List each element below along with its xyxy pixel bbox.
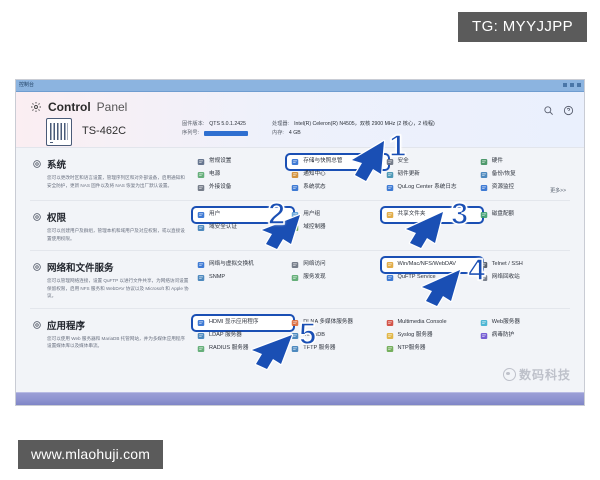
redacted-serial (204, 131, 248, 136)
control-item[interactable]: 存储与快照总管 (287, 155, 387, 169)
control-item[interactable]: 磁盘配额 (480, 211, 570, 219)
desktop-taskbar[interactable] (16, 392, 584, 405)
page-title-bold: Control (48, 100, 91, 114)
telegram-handle-badge: TG: MYYJJPP (458, 12, 587, 42)
domain-controller-icon (291, 224, 299, 232)
control-item[interactable]: 韧件更新 (386, 171, 476, 179)
control-item-label: MariaDB (303, 333, 325, 339)
control-item[interactable]: 网络回收站 (480, 274, 570, 282)
info-label: 固件版本: (182, 122, 204, 127)
storage-snapshot-icon (291, 158, 299, 166)
control-item[interactable]: MariaDB (291, 332, 381, 340)
section-title: 系统 (47, 157, 66, 171)
control-item[interactable]: 电源 (197, 171, 287, 179)
control-item-label: 电源 (209, 172, 220, 178)
control-item[interactable]: Win/Mac/NFS/WebDAV (382, 258, 482, 272)
section-description: 您可以创建用户及群组，管理本机和域用户及对应权限，或以直接设置使用权限。 (32, 227, 189, 242)
control-item[interactable]: Multimedia Console (386, 319, 476, 327)
hdmi-display-icon (197, 319, 205, 327)
section-applications: 应用程序您可以使用 Web 服务器和 MariaDB 托管网站，并为多媒体应用程… (30, 309, 570, 361)
control-item[interactable]: Web服务器 (480, 319, 570, 327)
control-item[interactable]: RADIUS 服务器 (197, 345, 287, 353)
control-item-label: Multimedia Console (398, 320, 447, 326)
general-settings-icon (197, 158, 205, 166)
control-item-label: 常规设置 (209, 159, 231, 165)
info-serial: 序列号: (182, 131, 248, 136)
resource-monitor-icon (480, 184, 488, 192)
section-title-row: 系统 (32, 157, 197, 171)
control-item[interactable]: NTP服务器 (386, 345, 476, 353)
ntp-server-icon (386, 345, 394, 353)
section-header-applications: 应用程序您可以使用 Web 服务器和 MariaDB 托管网站，并为多媒体应用程… (30, 318, 197, 350)
section-header-network: 网络和文件服务您可以管理网络连接，设置 QuFTP 以进行文件共享，为网络访问设… (30, 260, 197, 300)
info-cpu: 处理器: Intel(R) Celeron(R) N4505，双核 2900 M… (272, 122, 435, 127)
control-item[interactable]: 用户组 (291, 211, 381, 219)
privilege-user-icon (32, 212, 42, 222)
control-item-label: 存储与快照总管 (303, 159, 342, 165)
info-value: 4 GB (289, 131, 301, 136)
network-service-icon (32, 262, 42, 272)
page-title-light: Panel (97, 100, 128, 114)
section-items-applications: HDMI 显示应用程序DLNA 多媒体服务器Multimedia Console… (197, 318, 570, 353)
section-network: 网络和文件服务您可以管理网络连接，设置 QuFTP 以进行文件共享，为网络访问设… (30, 251, 570, 309)
control-item[interactable]: 常规设置 (197, 158, 287, 166)
qulog-center-icon (386, 184, 394, 192)
info-value: Intel(R) Celeron(R) N4505，双核 2900 MHz (2… (294, 122, 435, 127)
control-item[interactable]: 共享文件夹 (382, 208, 482, 222)
header-actions (543, 103, 574, 114)
controlpanel-header: ControlPanel TS-462C 固件版本: Q (16, 92, 584, 148)
control-item-label: 病毒防护 (492, 333, 514, 339)
control-item-label: 服务发现 (303, 275, 325, 281)
system-status-icon (291, 184, 299, 192)
section-description: 您可以更改时区和语言设置，管理序列区和对外部设备，启用通知和安全防护，更新 NA… (32, 174, 189, 189)
control-item-label: SNMP (209, 275, 225, 281)
antivirus-icon (480, 332, 488, 340)
snmp-icon (197, 274, 205, 282)
help-icon[interactable] (563, 103, 574, 114)
control-item-label: 磁盘配额 (492, 212, 514, 218)
disk-quota-icon (480, 211, 488, 219)
section-title-row: 网络和文件服务 (32, 260, 197, 274)
network-recycle-bin-icon (480, 274, 488, 282)
control-item-label: 域安全认证 (209, 225, 237, 231)
section-header-privilege: 权限您可以创建用户及群组，管理本机和域用户及对应权限，或以直接设置使用权限。 (30, 210, 197, 242)
control-item-label: LDAP 服务器 (209, 333, 242, 339)
section-title-row: 权限 (32, 210, 197, 224)
power-icon (197, 171, 205, 179)
control-item-label: TFTP 服务器 (303, 346, 335, 352)
control-item[interactable]: 用户 (193, 208, 293, 222)
control-item[interactable]: 安全 (386, 158, 476, 166)
control-item[interactable]: 病毒防护 (480, 332, 570, 340)
control-item-label: Telnet / SSH (492, 262, 523, 268)
control-item-label: 安全 (398, 159, 409, 165)
control-item-label: Web服务器 (492, 320, 520, 326)
website-url-badge: www.mlaohuji.com (18, 440, 163, 469)
window-titlebar: 控制台 (16, 80, 584, 92)
web-server-icon (480, 319, 488, 327)
control-item-label: 系统状态 (303, 185, 325, 191)
control-item[interactable]: 服务发现 (291, 274, 381, 282)
section-privilege: 权限您可以创建用户及群组，管理本机和域用户及对应权限，或以直接设置使用权限。用户… (30, 201, 570, 251)
more-link[interactable]: 更多>> (550, 187, 566, 194)
info-value: QTS 5.0.1.2425 (209, 122, 246, 127)
system-info: 固件版本: QTS 5.0.1.2425 序列号: 处理器: Intel(R) … (182, 122, 435, 136)
control-item-label: 域控制器 (303, 225, 325, 231)
weibo-logo-icon (503, 368, 516, 381)
control-item[interactable]: SNMP (197, 274, 287, 282)
firmware-update-icon (386, 171, 394, 179)
user-group-icon (291, 211, 299, 219)
control-item-label: RADIUS 服务器 (209, 346, 248, 352)
control-item-label: HDMI 显示应用程序 (209, 320, 258, 326)
controlpanel-window: 控制台 ControlPanel (16, 80, 584, 405)
section-items-system: 常规设置存储与快照总管安全硬件电源通知中心韧件更新备份/恢复外接设备系统状态Qu… (197, 157, 570, 192)
device-summary: TS-462C 固件版本: QTS 5.0.1.2425 序列号: 处理器: (46, 118, 574, 146)
control-item-label: 网络访问 (303, 262, 325, 268)
ldap-server-icon (197, 332, 205, 340)
win-mac-nfs-icon (386, 261, 394, 269)
backup-restore-icon (480, 171, 488, 179)
system-gear-icon (32, 159, 42, 169)
domain-security-icon (197, 224, 205, 232)
page-title: ControlPanel (30, 100, 127, 114)
control-item-label: 用户 (209, 212, 220, 218)
virtual-switch-icon (197, 261, 205, 269)
telnet-ssh-icon (480, 261, 488, 269)
section-title: 应用程序 (47, 318, 85, 332)
dlna-media-server-icon (291, 319, 299, 327)
control-item-label: NTP服务器 (398, 346, 426, 352)
control-item[interactable]: 系统状态 (291, 184, 381, 192)
info-label: 处理器: (272, 122, 289, 127)
section-title: 权限 (47, 210, 66, 224)
control-item[interactable]: 网络访问 (291, 261, 381, 269)
control-item-label: 资源监控 (492, 185, 514, 191)
control-item[interactable]: Telnet / SSH (480, 261, 570, 269)
device-model: TS-462C (82, 125, 126, 137)
control-item-label: QuLog Center 系统日志 (398, 185, 457, 191)
multimedia-console-icon (386, 319, 394, 327)
section-title: 网络和文件服务 (47, 260, 114, 274)
window-title: 控制台 (19, 81, 34, 88)
gear-icon (30, 101, 42, 113)
control-item-label: 韧件更新 (398, 172, 420, 178)
search-icon[interactable] (543, 103, 554, 114)
service-discovery-icon (291, 274, 299, 282)
external-device-icon (197, 184, 205, 192)
control-item-label: 外接设备 (209, 185, 231, 191)
users-icon (197, 211, 205, 219)
radius-server-icon (197, 345, 205, 353)
section-description: 您可以使用 Web 服务器和 MariaDB 托管网站，并为多媒体应用程序设置媒… (32, 335, 189, 350)
control-item-label: 备份/恢复 (492, 172, 516, 178)
control-item-label: Win/Mac/NFS/WebDAV (398, 262, 457, 268)
control-item[interactable]: 通知中心 (291, 171, 381, 179)
controlpanel-sections: 系统您可以更改时区和语言设置，管理序列区和对外部设备，启用通知和安全防护，更新 … (16, 148, 584, 361)
control-item[interactable]: QuFTP Service (386, 274, 476, 282)
info-firmware: 固件版本: QTS 5.0.1.2425 (182, 122, 248, 127)
control-item[interactable]: 域控制器 (291, 224, 381, 232)
control-item-label: Syslog 服务器 (398, 333, 433, 339)
section-header-system: 系统您可以更改时区和语言设置，管理序列区和对外部设备，启用通知和安全防护，更新 … (30, 157, 197, 189)
info-label: 序列号: (182, 131, 199, 136)
weibo-watermark: 数码科技 (503, 366, 571, 383)
quftp-service-icon (386, 274, 394, 282)
control-item[interactable]: 硬件 (480, 158, 570, 166)
section-description: 您可以管理网络连接，设置 QuFTP 以进行文件共享，为网络访问设置保留权限，启… (32, 277, 189, 300)
control-item[interactable]: 备份/恢复 (480, 171, 570, 179)
control-item-label: 网络与虚拟交换机 (209, 262, 254, 268)
control-item[interactable]: Syslog 服务器 (386, 332, 476, 340)
nas-device-icon (46, 118, 72, 146)
control-item[interactable]: LDAP 服务器 (197, 332, 287, 340)
control-item-label: 网络回收站 (492, 275, 520, 281)
control-item[interactable]: QuLog Center 系统日志 (386, 184, 476, 192)
section-system: 系统您可以更改时区和语言设置，管理序列区和对外部设备，启用通知和安全防护，更新 … (30, 148, 570, 201)
control-item[interactable]: 域安全认证 (197, 224, 287, 232)
section-items-privilege: 用户用户组共享文件夹磁盘配额域安全认证域控制器 (197, 210, 570, 232)
watermark-text: 数码科技 (519, 366, 571, 383)
shared-folder-icon (386, 211, 394, 219)
control-item-label: 硬件 (492, 159, 503, 165)
info-memory: 内存: 4 GB (272, 131, 435, 136)
control-item-label: 用户组 (303, 212, 320, 218)
section-title-row: 应用程序 (32, 318, 197, 332)
control-item-label: 共享文件夹 (398, 212, 426, 218)
section-items-network: 网络与虚拟交换机网络访问Win/Mac/NFS/WebDAVTelnet / S… (197, 260, 570, 282)
control-item[interactable]: HDMI 显示应用程序 (193, 316, 293, 330)
syslog-server-icon (386, 332, 394, 340)
hardware-icon (480, 158, 488, 166)
control-item-label: QuFTP Service (398, 275, 436, 281)
window-controls[interactable] (563, 83, 581, 87)
control-item-label: DLNA 多媒体服务器 (303, 320, 353, 326)
control-item[interactable]: TFTP 服务器 (291, 345, 381, 353)
mariadb-icon (291, 332, 299, 340)
applications-icon (32, 320, 42, 330)
control-item[interactable]: 网络与虚拟交换机 (197, 261, 287, 269)
tftp-server-icon (291, 345, 299, 353)
control-item[interactable]: 外接设备 (197, 184, 287, 192)
network-access-icon (291, 261, 299, 269)
security-lock-icon (386, 158, 394, 166)
control-item-label: 通知中心 (303, 172, 325, 178)
notification-center-icon (291, 171, 299, 179)
control-item[interactable]: DLNA 多媒体服务器 (291, 319, 381, 327)
info-label: 内存: (272, 131, 284, 136)
